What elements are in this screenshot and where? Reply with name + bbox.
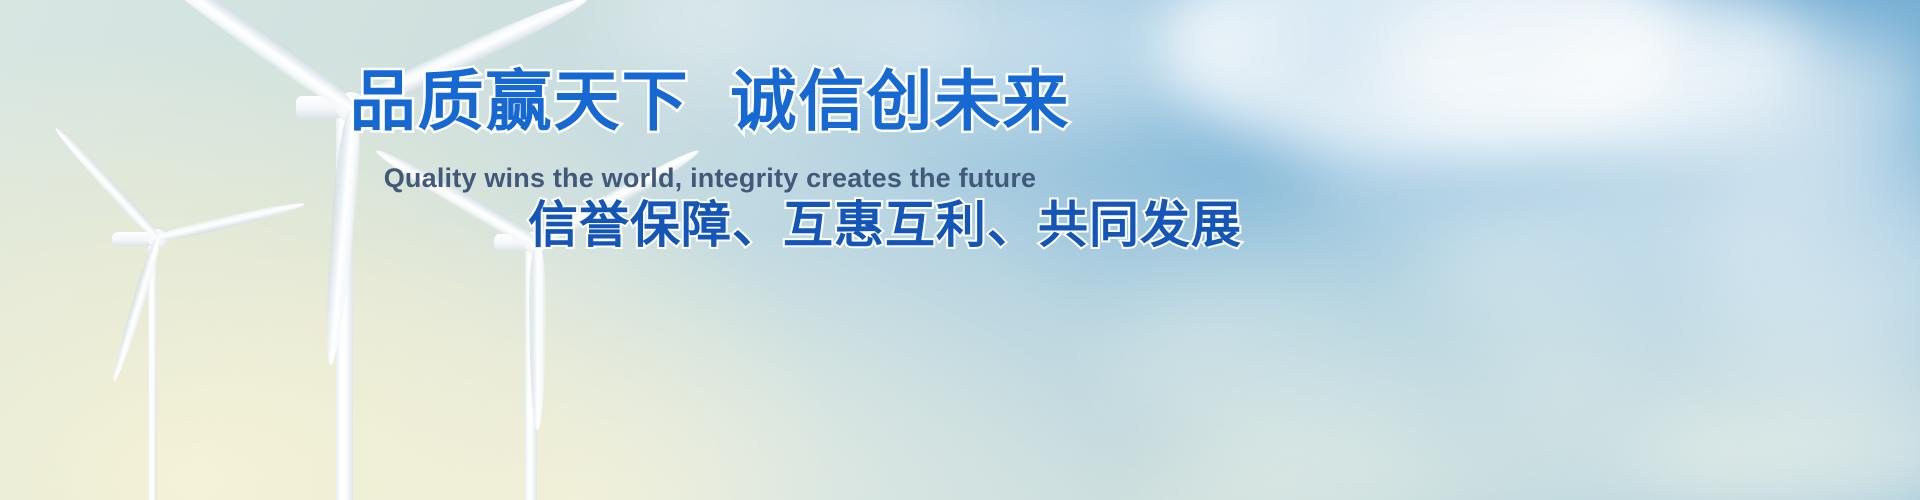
turbine-blade (529, 244, 546, 430)
hero-banner: 品质赢天下 诚信创未来 Quality wins the world, inte… (0, 0, 1920, 500)
turbine-blade (372, 144, 541, 252)
wind-turbine-right (0, 0, 1920, 500)
turbine-blade (533, 144, 702, 252)
